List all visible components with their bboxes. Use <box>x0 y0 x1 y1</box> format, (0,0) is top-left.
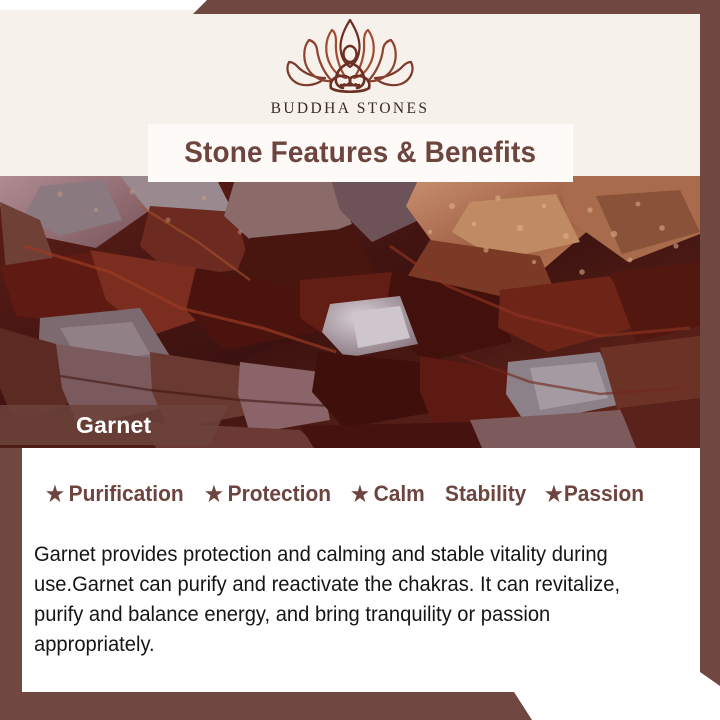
stone-description: Garnet provides protection and calming a… <box>34 540 658 660</box>
benefit-label: Stability <box>445 481 526 507</box>
title-banner: Stone Features & Benefits <box>148 124 573 182</box>
star-icon: ★ <box>205 484 223 505</box>
benefit-item-protection: ★ Protection <box>205 481 331 507</box>
lotus-meditation-icon <box>275 18 425 96</box>
page-title: Stone Features & Benefits <box>185 136 537 170</box>
benefit-item-stability: Stability <box>445 481 526 507</box>
frame-bottom-bar <box>0 692 720 720</box>
benefit-label: Passion <box>564 481 644 507</box>
frame-left-bar <box>0 447 22 697</box>
brand-wordmark: BUDDHA STONES <box>0 100 700 118</box>
benefits-list: ★ Purification ★ Protection ★ Calm Stabi… <box>46 481 686 507</box>
stone-name-tag: Garnet <box>0 405 228 445</box>
benefit-label: Protection <box>227 481 330 507</box>
stone-name-label: Garnet <box>76 412 151 439</box>
benefit-label: Purification <box>69 481 184 507</box>
benefit-item-purification: ★ Purification <box>46 481 184 507</box>
benefit-item-passion: ★ Passion <box>545 481 644 507</box>
star-icon: ★ <box>545 484 563 505</box>
star-icon: ★ <box>351 484 369 505</box>
stone-info-poster: BUDDHA STONES Stone Features & Benefits <box>0 0 720 720</box>
benefit-label: Calm <box>374 481 425 507</box>
benefit-item-calm: ★ Calm <box>351 481 425 507</box>
brand-logo-block: BUDDHA STONES <box>0 18 700 118</box>
star-icon: ★ <box>46 484 64 505</box>
frame-right-bar <box>700 0 720 686</box>
